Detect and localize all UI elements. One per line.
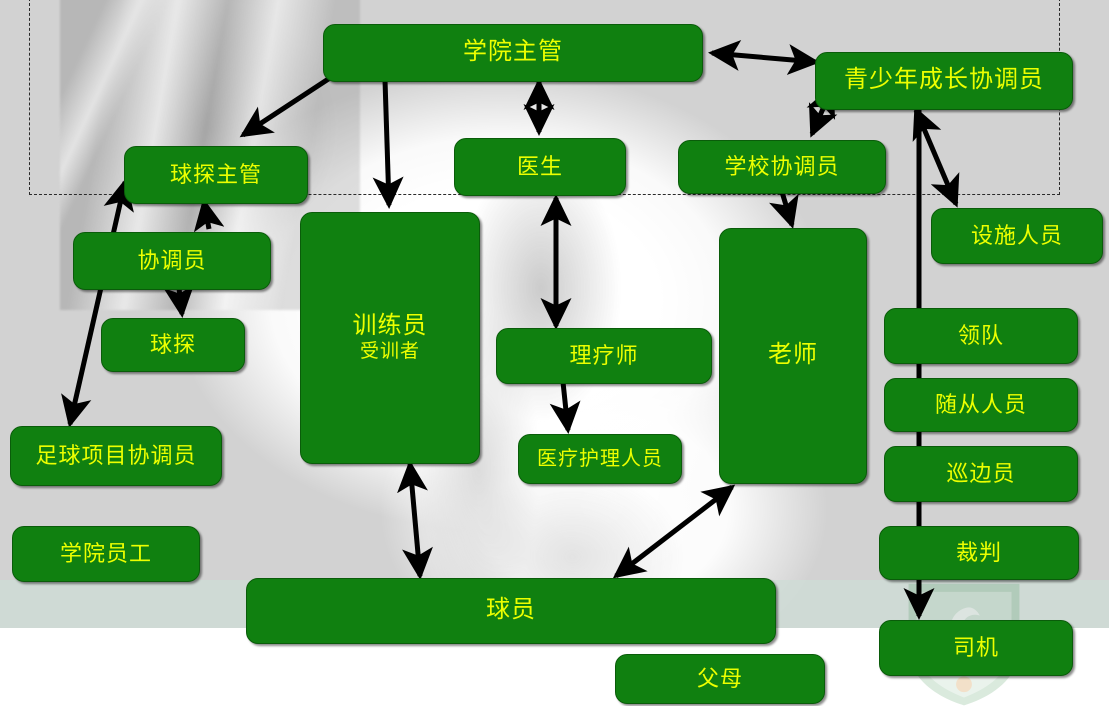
node-academy-staff[interactable]: 学院员工 (12, 526, 200, 582)
node-coach-trainee[interactable]: 训练员受训者 (300, 212, 480, 464)
edge-physio-to-medical-staff (563, 382, 568, 430)
edge-director-to-youth-coord (712, 53, 816, 62)
node-teacher[interactable]: 老师 (719, 228, 867, 484)
node-label: 球探 (150, 332, 196, 357)
node-scout-manager[interactable]: 球探主管 (124, 146, 308, 204)
node-label: 医疗护理人员 (537, 448, 663, 471)
node-driver[interactable]: 司机 (879, 620, 1073, 676)
edge-player-to-teacher (616, 487, 732, 576)
node-label: 设施人员 (971, 223, 1063, 248)
node-parents[interactable]: 父母 (615, 654, 825, 704)
node-player[interactable]: 球员 (246, 578, 776, 644)
edge-school-coord-to-teacher (782, 192, 792, 225)
node-label: 球探主管 (170, 162, 262, 187)
node-facility-staff[interactable]: 设施人员 (931, 208, 1103, 264)
node-team-leader[interactable]: 领队 (884, 308, 1078, 364)
node-label: 领队 (958, 323, 1004, 348)
node-label: 医生 (517, 154, 563, 179)
org-chart-canvas: 学院主管青少年成长协调员球探主管医生学校协调员设施人员协调员训练员受训者老师球探… (0, 0, 1109, 706)
node-label: 学院员工 (60, 541, 152, 566)
node-medical-care-staff[interactable]: 医疗护理人员 (518, 434, 682, 484)
node-sublabel: 受训者 (360, 341, 420, 363)
node-youth-dev-coord[interactable]: 青少年成长协调员 (815, 52, 1073, 110)
node-coordinator[interactable]: 协调员 (73, 232, 271, 290)
node-scout[interactable]: 球探 (101, 318, 245, 372)
node-football-coord[interactable]: 足球项目协调员 (10, 426, 222, 486)
node-attendant[interactable]: 随从人员 (884, 378, 1078, 432)
node-label: 学院主管 (463, 39, 563, 67)
node-label: 巡边员 (946, 461, 1015, 486)
edge-player-to-coach (410, 464, 420, 576)
node-physiotherapist[interactable]: 理疗师 (496, 328, 712, 384)
node-label: 青少年成长协调员 (844, 67, 1044, 95)
node-label: 理疗师 (569, 343, 638, 368)
edge-coordinator-to-scout-manager (204, 202, 209, 229)
node-doctor[interactable]: 医生 (454, 138, 626, 196)
node-academy-director[interactable]: 学院主管 (323, 24, 703, 82)
node-label: 协调员 (137, 248, 206, 273)
node-label: 球员 (486, 597, 536, 625)
node-label: 父母 (697, 666, 743, 691)
node-label: 足球项目协调员 (35, 443, 196, 468)
node-label: 裁判 (956, 540, 1002, 565)
edge-coordinator-to-scout (179, 288, 182, 314)
node-school-coord[interactable]: 学校协调员 (678, 140, 886, 194)
node-label: 训练员 (353, 313, 428, 341)
node-referee[interactable]: 裁判 (879, 526, 1079, 580)
node-label: 司机 (953, 635, 999, 660)
edge-director-to-coach (385, 80, 389, 205)
node-linesman[interactable]: 巡边员 (884, 446, 1078, 502)
edge-youth-coord-to-facility (916, 110, 956, 204)
node-label: 随从人员 (935, 392, 1027, 417)
edge-director-to-scout-manager (243, 74, 336, 135)
node-label: 学校协调员 (724, 154, 839, 179)
edge-football-coord-to-scout-manager (70, 182, 125, 424)
node-label: 老师 (768, 342, 818, 370)
